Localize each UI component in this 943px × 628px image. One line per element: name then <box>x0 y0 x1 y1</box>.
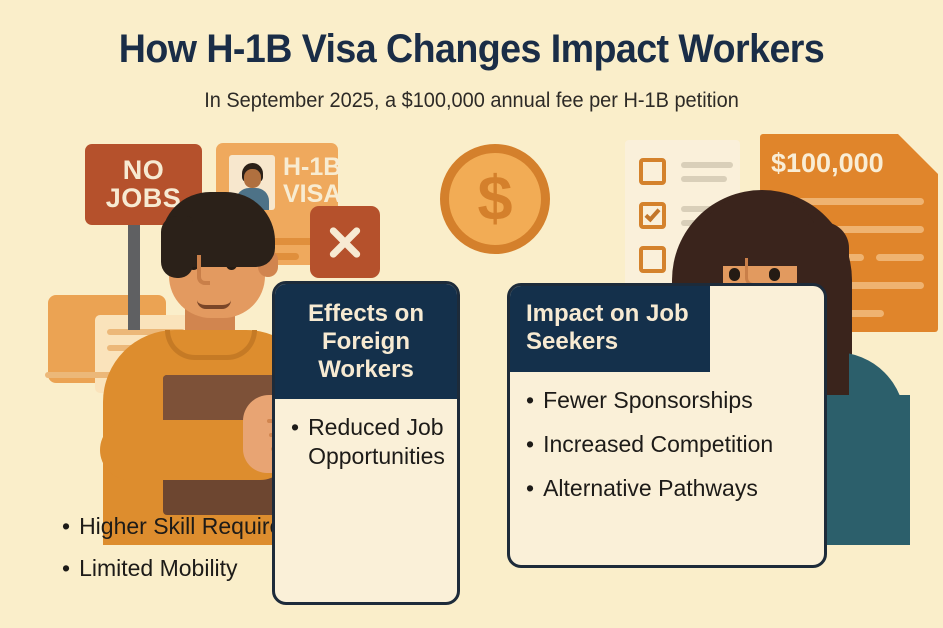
card-bullet-list: • Fewer Sponsorships • Increased Competi… <box>510 372 824 528</box>
card-title: Impact on Job Seekers <box>510 286 710 372</box>
visa-card-text: H-1B VISA <box>283 154 393 208</box>
card-title: Effects on Foreign Workers <box>275 284 457 399</box>
sign-post <box>128 210 140 330</box>
list-item-label: Increased Competition <box>543 430 773 458</box>
infographic-canvas: How H-1B Visa Changes Impact Workers In … <box>0 0 943 628</box>
page-subtitle: In September 2025, a $100,000 annual fee… <box>24 89 920 113</box>
woman-nose <box>745 258 757 286</box>
list-item-label: Fewer Sponsorships <box>543 386 753 414</box>
visa-text-line2: VISA <box>283 181 393 208</box>
man-mouth <box>197 300 231 309</box>
card-bullet-list: • Reduced Job Opportunities <box>275 399 457 495</box>
bullet-dot-icon: • <box>526 386 534 414</box>
list-item: • Reduced Job Opportunities <box>291 413 445 469</box>
list-item-label: Limited Mobility <box>79 554 238 582</box>
visa-text-line1: H-1B <box>283 154 393 181</box>
list-item: • Alternative Pathways <box>526 474 812 502</box>
bullet-dot-icon: • <box>526 474 534 502</box>
rejected-x-icon <box>310 206 380 278</box>
dollar-coin-icon: $ <box>440 144 550 254</box>
list-item: • Increased Competition <box>526 430 812 458</box>
no-jobs-sign-line1: NO <box>123 157 165 185</box>
bullet-dot-icon: • <box>291 413 299 441</box>
dollar-sign-glyph: $ <box>449 153 541 245</box>
man-sideburn <box>161 216 193 278</box>
bullet-dot-icon: • <box>62 512 70 540</box>
list-item: • Fewer Sponsorships <box>526 386 812 414</box>
list-item-label: Alternative Pathways <box>543 474 758 502</box>
list-item-label: Reduced Job Opportunities <box>308 413 445 469</box>
bullet-dot-icon: • <box>526 430 534 458</box>
document-amount: $100,000 <box>771 148 884 179</box>
no-jobs-sign-line2: JOBS <box>106 185 182 213</box>
man-nose <box>197 255 210 285</box>
bullet-dot-icon: • <box>62 554 70 582</box>
card-impact-on-job-seekers[interactable]: Impact on Job Seekers • Fewer Sponsorshi… <box>507 283 827 568</box>
card-effects-on-foreign-workers[interactable]: Effects on Foreign Workers • Reduced Job… <box>272 281 460 605</box>
page-title: How H-1B Visa Changes Impact Workers <box>28 27 914 72</box>
